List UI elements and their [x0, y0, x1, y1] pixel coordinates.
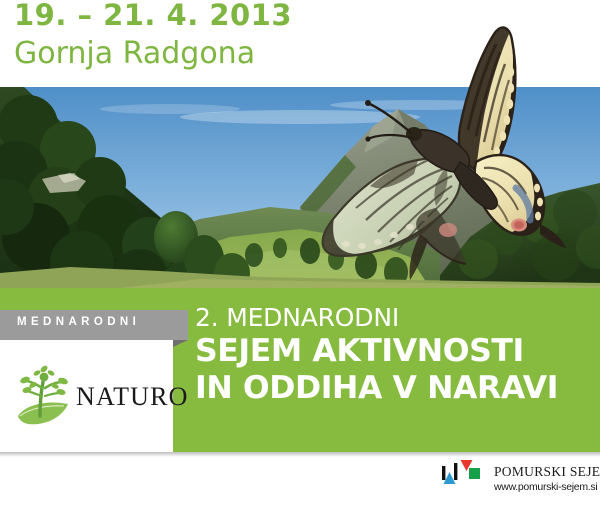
mednarodni-ribbon: MEDNARODNI	[0, 310, 188, 342]
headline-line-1: SEJEM AKTIVNOSTI	[195, 333, 595, 370]
event-poster: 19. – 21. 4. 2013 Gornja Radgona	[0, 0, 600, 517]
naturo-logo: NATURO	[14, 358, 164, 430]
poster-header: 19. – 21. 4. 2013 Gornja Radgona	[0, 0, 600, 87]
headline-prefix: 2. MEDNARODNI	[195, 303, 595, 333]
organizer-name: POMURSKI SEJEM	[494, 464, 600, 480]
organizer-footer: POMURSKI SEJEM www.pomurski-sejem.si	[440, 458, 592, 498]
event-date: 19. – 21. 4. 2013	[14, 0, 292, 32]
naturo-wordmark: NATURO	[76, 382, 189, 412]
naturo-plant-leaf-icon	[14, 358, 76, 430]
headline-line-2: IN ODDIHA V NARAVI	[195, 370, 595, 407]
pomurski-sejem-logo-icon	[440, 458, 488, 492]
organizer-url[interactable]: www.pomurski-sejem.si	[494, 481, 597, 493]
event-city: Gornja Radgona	[14, 36, 255, 71]
landscape-photo-graphic	[0, 87, 600, 288]
poster-headline: 2. MEDNARODNI SEJEM AKTIVNOSTI IN ODDIHA…	[195, 303, 595, 407]
landscape-photo	[0, 87, 600, 288]
ribbon-label: MEDNARODNI	[17, 316, 140, 328]
band-drop-shadow	[0, 452, 600, 457]
